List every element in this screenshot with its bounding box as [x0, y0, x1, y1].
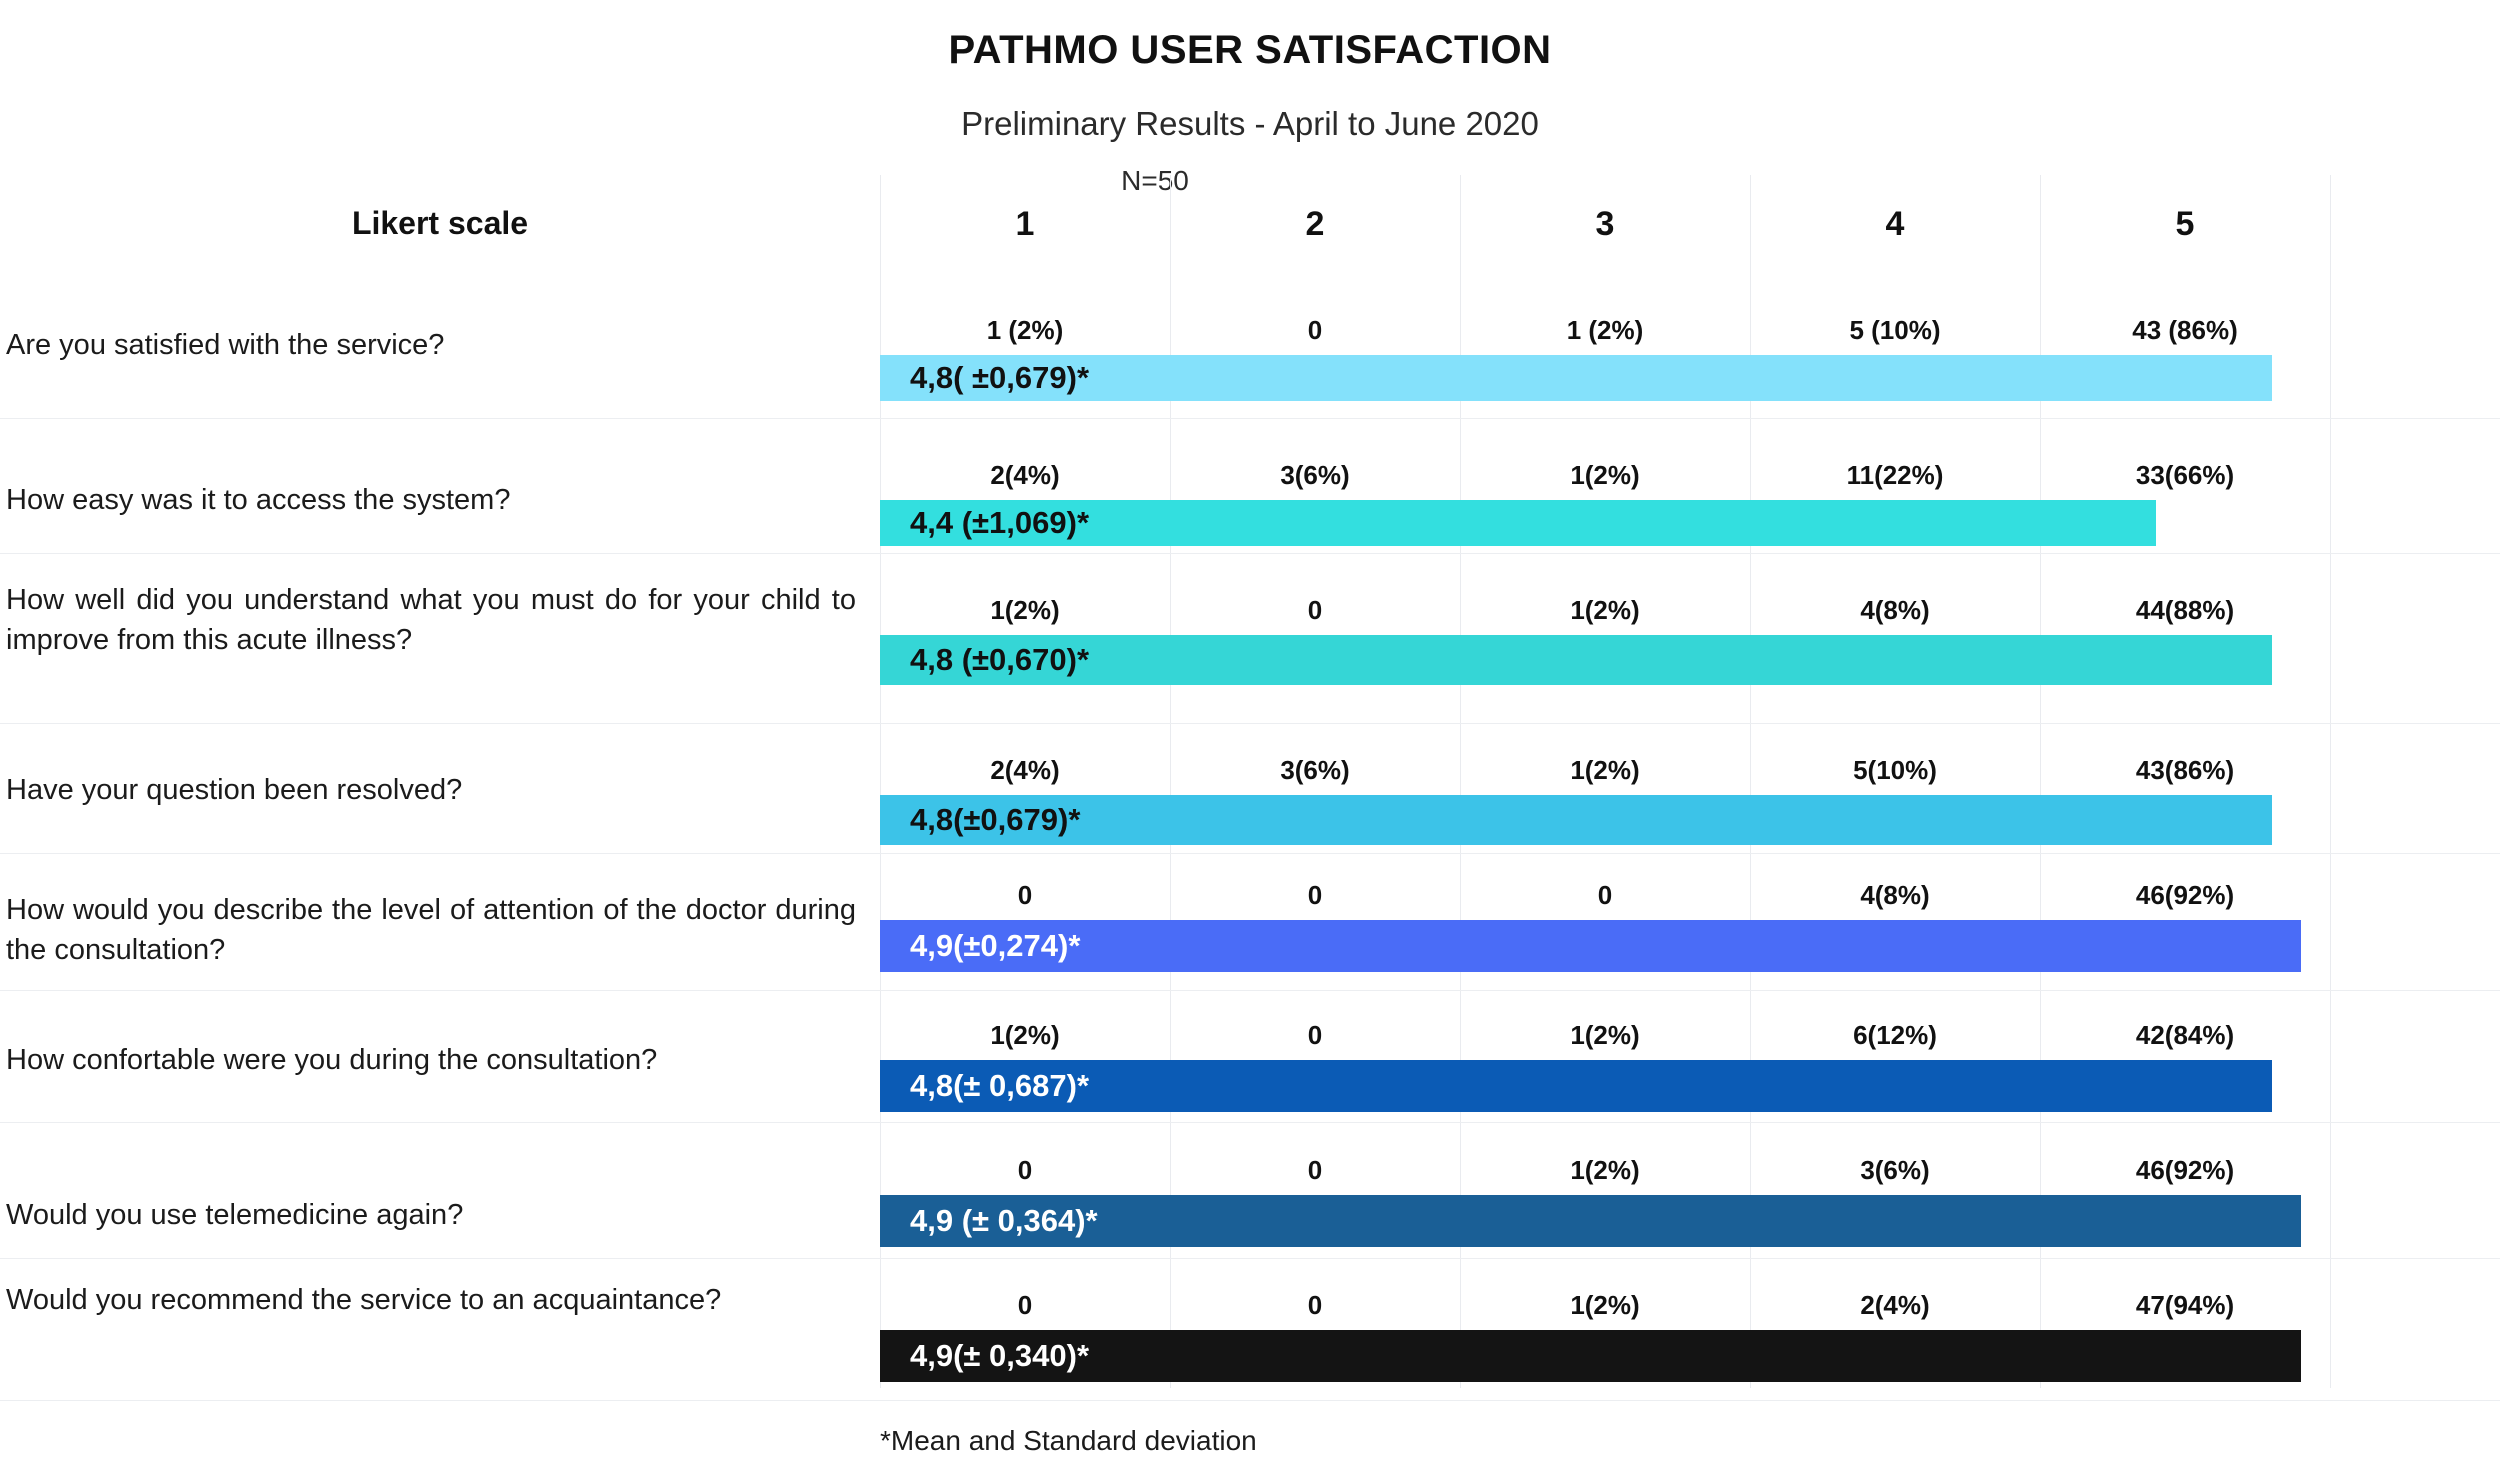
response-count-cell: 3(6%) — [1750, 1155, 2040, 1186]
question-label: Are you satisfied with the service? — [6, 325, 856, 365]
mean-bar: 4,4 (±1,069)* — [880, 500, 2156, 546]
mean-bar-label: 4,4 (±1,069)* — [880, 505, 1089, 541]
response-count-cell: 1(2%) — [880, 1020, 1170, 1051]
response-count-cell: 43(86%) — [2040, 755, 2330, 786]
response-counts: 001(2%)2(4%)47(94%) — [880, 1290, 2330, 1330]
response-count-cell: 0 — [1170, 315, 1460, 346]
response-count-cell: 0 — [880, 1155, 1170, 1186]
row-separator — [0, 853, 2500, 854]
response-count-cell: 0 — [880, 1290, 1170, 1321]
row-separator — [0, 1400, 2500, 1401]
mean-bar-label: 4,9(±0,274)* — [880, 928, 1080, 964]
likert-scale-header: Likert scale — [120, 205, 760, 242]
response-count-cell: 0 — [1170, 595, 1460, 626]
response-count-cell: 1(2%) — [1460, 1020, 1750, 1051]
response-count-cell: 6(12%) — [1750, 1020, 2040, 1051]
response-count-cell: 4(8%) — [1750, 880, 2040, 911]
response-count-cell: 0 — [880, 880, 1170, 911]
mean-bar-label: 4,9(± 0,340)* — [880, 1338, 1089, 1374]
response-count-cell: 0 — [1170, 1020, 1460, 1051]
column-header-3: 3 — [1460, 205, 1750, 244]
question-label: Would you recommend the service to an ac… — [6, 1280, 856, 1320]
response-count-cell: 3(6%) — [1170, 755, 1460, 786]
question-label: How confortable were you during the cons… — [6, 1040, 856, 1080]
response-count-cell: 33(66%) — [2040, 460, 2330, 491]
response-count-cell: 0 — [1170, 1290, 1460, 1321]
response-counts: 1(2%)01(2%)4(8%)44(88%) — [880, 595, 2330, 635]
gridline-vertical — [2330, 175, 2331, 1388]
footnote: *Mean and Standard deviation — [880, 1425, 1780, 1457]
response-count-cell: 11(22%) — [1750, 460, 2040, 491]
response-count-cell: 46(92%) — [2040, 1155, 2330, 1186]
response-count-cell: 1(2%) — [1460, 755, 1750, 786]
row-separator — [0, 990, 2500, 991]
question-label: How well did you understand what you mus… — [6, 580, 856, 660]
response-counts: 2(4%)3(6%)1(2%)5(10%)43(86%) — [880, 755, 2330, 795]
response-count-cell: 5 (10%) — [1750, 315, 2040, 346]
response-count-cell: 2(4%) — [880, 460, 1170, 491]
response-count-cell: 42(84%) — [2040, 1020, 2330, 1051]
response-count-cell: 3(6%) — [1170, 460, 1460, 491]
response-count-cell: 0 — [1170, 1155, 1460, 1186]
response-count-cell: 0 — [1460, 880, 1750, 911]
question-label: How easy was it to access the system? — [6, 480, 856, 520]
response-counts: 0004(8%)46(92%) — [880, 880, 2330, 920]
question-label: Would you use telemedicine again? — [6, 1195, 856, 1235]
sample-size-label: N=50 — [1025, 165, 1285, 197]
mean-bar: 4,8(±0,679)* — [880, 795, 2272, 845]
mean-bar: 4,8 (±0,670)* — [880, 635, 2272, 685]
response-count-cell: 46(92%) — [2040, 880, 2330, 911]
row-separator — [0, 553, 2500, 554]
response-count-cell: 4(8%) — [1750, 595, 2040, 626]
response-count-cell: 0 — [1170, 880, 1460, 911]
response-count-cell: 1 (2%) — [1460, 315, 1750, 346]
response-counts: 001(2%)3(6%)46(92%) — [880, 1155, 2330, 1195]
chart-subtitle: Preliminary Results - April to June 2020 — [0, 105, 2500, 143]
chart-title: PATHMO USER SATISFACTION — [0, 28, 2500, 73]
response-count-cell: 5(10%) — [1750, 755, 2040, 786]
mean-bar-label: 4,8(±0,679)* — [880, 802, 1080, 838]
mean-bar-label: 4,8( ±0,679)* — [880, 360, 1089, 396]
column-header-5: 5 — [2040, 205, 2330, 244]
column-header-1: 1 — [880, 205, 1170, 244]
row-separator — [0, 1258, 2500, 1259]
mean-bar: 4,8(± 0,687)* — [880, 1060, 2272, 1112]
response-count-cell: 1(2%) — [880, 595, 1170, 626]
response-count-cell: 1(2%) — [1460, 460, 1750, 491]
response-count-cell: 1 (2%) — [880, 315, 1170, 346]
mean-bar: 4,8( ±0,679)* — [880, 355, 2272, 401]
chart-sheet: PATHMO USER SATISFACTION Preliminary Res… — [0, 0, 2500, 1473]
row-separator — [0, 1122, 2500, 1123]
response-counts: 1 (2%)01 (2%)5 (10%)43 (86%) — [880, 315, 2330, 355]
row-separator — [0, 418, 2500, 419]
column-header-2: 2 — [1170, 205, 1460, 244]
response-count-cell: 2(4%) — [880, 755, 1170, 786]
mean-bar: 4,9(± 0,340)* — [880, 1330, 2301, 1382]
row-separator — [0, 723, 2500, 724]
mean-bar: 4,9 (± 0,364)* — [880, 1195, 2301, 1247]
response-count-cell: 2(4%) — [1750, 1290, 2040, 1321]
mean-bar: 4,9(±0,274)* — [880, 920, 2301, 972]
response-counts: 2(4%)3(6%)1(2%)11(22%)33(66%) — [880, 460, 2330, 500]
response-count-cell: 43 (86%) — [2040, 315, 2330, 346]
column-header-4: 4 — [1750, 205, 2040, 244]
question-label: Have your question been resolved? — [6, 770, 856, 810]
mean-bar-label: 4,9 (± 0,364)* — [880, 1203, 1098, 1239]
response-count-cell: 1(2%) — [1460, 595, 1750, 626]
question-label: How would you describe the level of atte… — [6, 890, 856, 970]
response-count-cell: 44(88%) — [2040, 595, 2330, 626]
response-count-cell: 47(94%) — [2040, 1290, 2330, 1321]
mean-bar-label: 4,8 (±0,670)* — [880, 642, 1089, 678]
response-count-cell: 1(2%) — [1460, 1155, 1750, 1186]
mean-bar-label: 4,8(± 0,687)* — [880, 1068, 1089, 1104]
response-counts: 1(2%)01(2%)6(12%)42(84%) — [880, 1020, 2330, 1060]
response-count-cell: 1(2%) — [1460, 1290, 1750, 1321]
